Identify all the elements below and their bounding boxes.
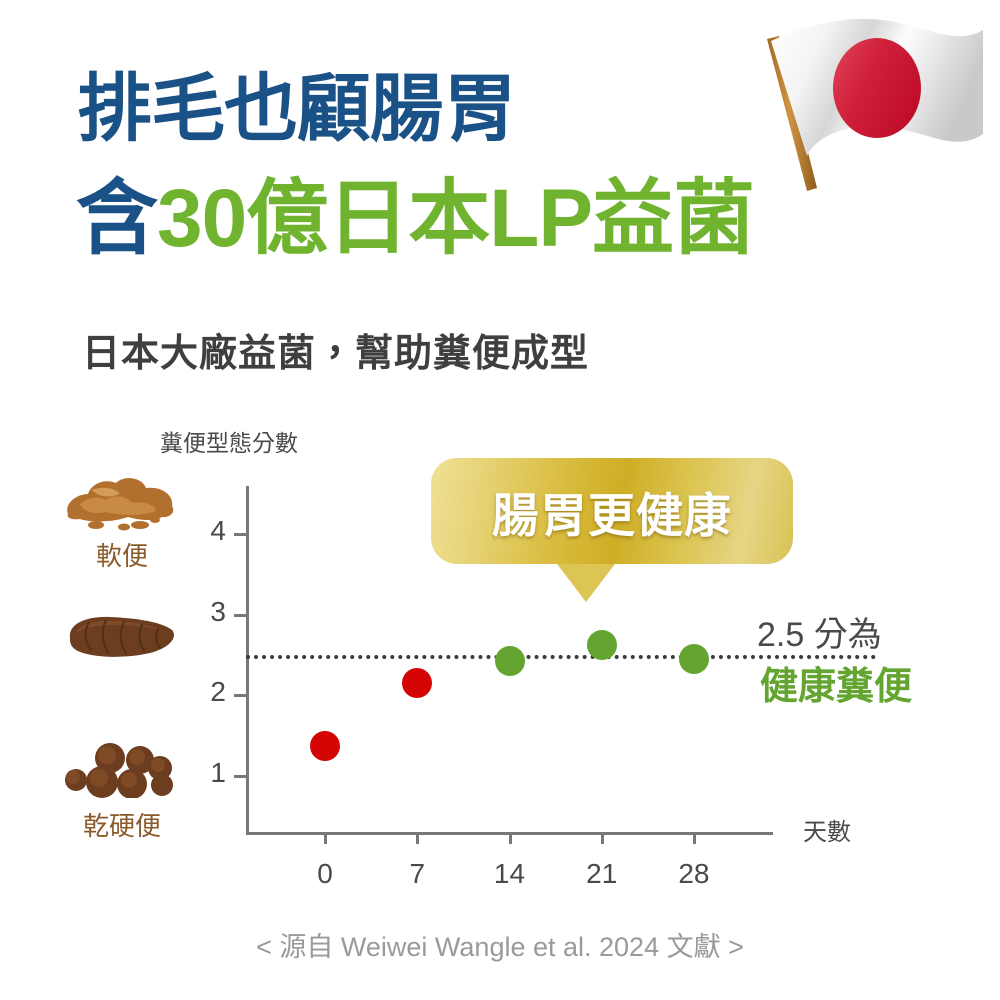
chart-x-tick	[601, 832, 604, 844]
subtitle: 日本大廠益菌，幫助糞便成型	[82, 322, 589, 377]
chart-data-point	[495, 646, 525, 676]
chart-y-tick	[234, 614, 246, 617]
chart-x-tick	[693, 832, 696, 844]
chart-data-point	[402, 668, 432, 698]
callout-pointer-icon	[554, 560, 618, 602]
threshold-note-value: 2.5 分為	[757, 607, 882, 656]
chart-y-tick	[234, 694, 246, 697]
chart-y-tick	[234, 533, 246, 536]
chart-y-tick-label: 1	[186, 757, 226, 789]
headline-primary: 排毛也顧腸胃	[78, 72, 516, 146]
chart-x-tick-label: 0	[295, 858, 355, 890]
callout-badge: 腸胃更健康	[431, 458, 793, 564]
poster-root: 排毛也顧腸胃 含30億日本LP益菌 日本大廠益菌，幫助糞便成型	[0, 0, 1000, 1000]
hard-stool-label: 乾硬便	[42, 806, 202, 843]
chart-x-axis-title: 天數	[803, 812, 851, 847]
japan-flag-icon	[745, 12, 995, 242]
chart-x-tick	[324, 832, 327, 844]
chart-x-tick-label: 21	[572, 858, 632, 890]
source-citation: < 源自 Weiwei Wangle et al. 2024 文獻 >	[0, 925, 1000, 964]
chart-data-point	[587, 630, 617, 660]
chart-x-tick-label: 7	[387, 858, 447, 890]
normal-stool-icon	[58, 608, 182, 669]
chart-x-tick-label: 28	[664, 858, 724, 890]
chart-x-tick	[416, 832, 419, 844]
threshold-note-label: 健康糞便	[760, 655, 912, 710]
soft-stool-label: 軟便	[42, 536, 202, 573]
headline-secondary-highlight: 30億日本LP益菌	[157, 173, 754, 264]
callout-label: 腸胃更健康	[431, 458, 793, 564]
chart-x-tick-label: 14	[480, 858, 540, 890]
chart-y-axis-title: 糞便型態分數	[160, 424, 298, 458]
chart-data-point	[310, 731, 340, 761]
soft-stool-icon	[58, 470, 182, 537]
chart-y-tick-label: 3	[186, 596, 226, 628]
chart-y-tick	[234, 775, 246, 778]
headline-secondary: 含30億日本LP益菌	[76, 178, 754, 260]
hard-stool-icon	[58, 738, 182, 803]
chart-x-tick	[509, 832, 512, 844]
chart-y-axis	[246, 486, 249, 834]
headline-secondary-prefix: 含	[76, 173, 157, 264]
chart-data-point	[679, 644, 709, 674]
chart-y-tick-label: 2	[186, 676, 226, 708]
